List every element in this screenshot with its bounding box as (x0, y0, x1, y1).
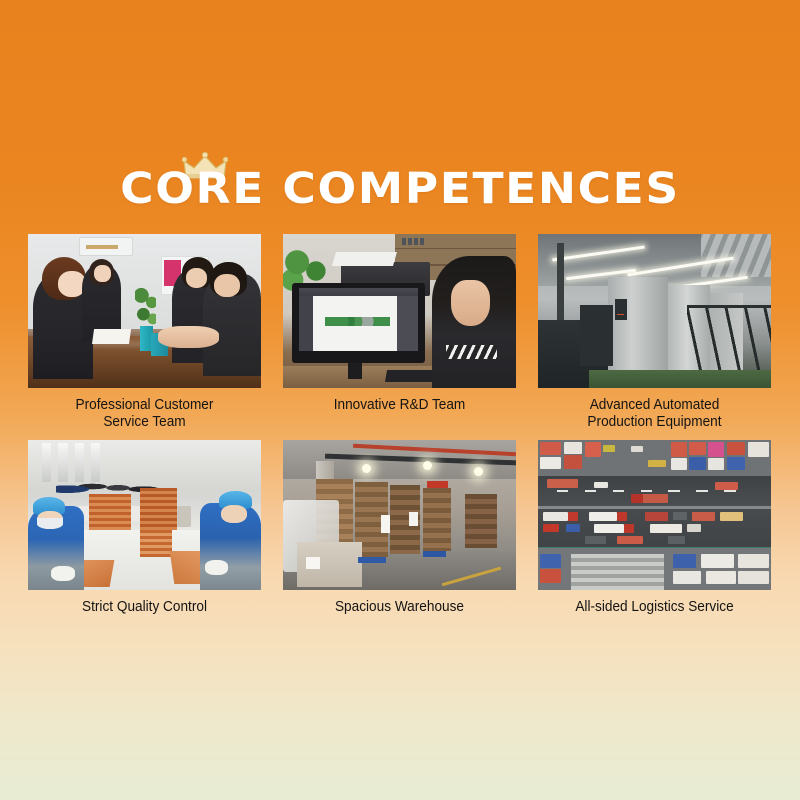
lane-marking (724, 490, 736, 492)
caption-line-1: Innovative R&D Team (334, 397, 466, 413)
truck-on-highway (692, 512, 715, 521)
shipping-container (540, 554, 561, 568)
competence-card-innovative-rd-team[interactable]: Innovative R&D Team (283, 234, 516, 431)
ceiling-lamp (474, 467, 483, 476)
shipping-container (564, 455, 583, 469)
truck-on-highway (547, 479, 577, 488)
monitor-screen (299, 288, 419, 350)
clasped-hands (158, 326, 219, 348)
photo-all-sided-logistics-service (538, 440, 771, 590)
software-toolbar (299, 288, 419, 296)
truck-on-highway (543, 524, 559, 532)
car-on-highway (668, 536, 684, 544)
ventilation-duct (701, 234, 771, 277)
competence-card-professional-customer-service-team[interactable]: Professional Customer Service Team (28, 234, 261, 431)
press-delivery-unit (580, 305, 613, 367)
caption-line-1: Spacious Warehouse (335, 599, 464, 615)
truck-on-highway (641, 494, 669, 503)
factory-floor (589, 370, 771, 388)
worker-left-face-mask (37, 518, 63, 529)
car-on-highway (687, 524, 701, 532)
shipping-container (708, 442, 724, 457)
plastic-skid (423, 551, 446, 557)
truck-on-highway (594, 524, 624, 533)
caption-line-2: Production Equipment (587, 414, 721, 430)
caption-line-1: Advanced Automated (590, 397, 720, 413)
caption-spacious-warehouse: Spacious Warehouse (290, 599, 509, 616)
shipping-container (748, 442, 769, 457)
shipping-container (671, 442, 687, 457)
shipping-container (540, 442, 561, 456)
pallet-label (306, 557, 320, 569)
caption-strict-quality-control: Strict Quality Control (35, 599, 254, 616)
monitor-stand (348, 363, 362, 378)
designer-face (451, 280, 491, 326)
machine-control-panel (615, 299, 627, 321)
competence-grid: Professional Customer Service Team (28, 234, 772, 616)
shipping-container (564, 442, 583, 454)
workshop-window (42, 443, 51, 482)
book (408, 238, 412, 245)
shipping-container (738, 571, 768, 585)
carton-pallet (423, 488, 451, 551)
printing-press-unit (608, 277, 669, 382)
support-beam (557, 243, 564, 323)
truck-on-highway (589, 512, 617, 521)
competence-card-all-sided-logistics-service[interactable]: All-sided Logistics Service (538, 440, 771, 616)
worker-left-glove (51, 566, 74, 581)
car-on-highway (585, 536, 606, 544)
car-on-highway (566, 524, 580, 532)
photo-strict-quality-control (28, 440, 261, 590)
parked-vehicle (603, 445, 615, 453)
person-right-front-face (214, 274, 240, 297)
computer-monitor (292, 283, 425, 363)
shelf-row (395, 248, 516, 249)
caption-innovative-rd-team: Innovative R&D Team (290, 397, 509, 414)
truck-cab (624, 524, 633, 533)
page-title: CORE COMPETENCES (0, 152, 800, 212)
carton-pallet (465, 494, 498, 548)
lane-marking (641, 490, 653, 492)
photo-innovative-rd-team (283, 234, 516, 388)
design-canvas-artwork (325, 317, 390, 326)
shipping-container (689, 457, 705, 471)
truck-on-highway (715, 482, 738, 490)
shipping-container (671, 458, 687, 470)
software-tool-panel (299, 296, 313, 350)
competence-card-strict-quality-control[interactable]: Strict Quality Control (28, 440, 261, 616)
car-on-highway (673, 512, 687, 520)
designer-collar (446, 345, 497, 359)
competence-card-spacious-warehouse[interactable]: Spacious Warehouse (283, 440, 516, 616)
box-stack (140, 530, 173, 557)
lane-marking (557, 490, 569, 492)
shipping-container (738, 554, 768, 568)
truck-on-highway (645, 512, 668, 521)
warehouse-sign (427, 481, 448, 489)
person-right-back-face (186, 268, 207, 288)
box-stack (140, 488, 177, 536)
shipping-container (585, 442, 601, 457)
worker-right-glove (205, 560, 228, 575)
caption-all-sided-logistics-service: All-sided Logistics Service (545, 599, 764, 616)
shipping-container (540, 457, 561, 469)
pallet-label (409, 512, 418, 526)
shipping-container (706, 571, 736, 585)
shipping-container (727, 457, 746, 471)
book (402, 238, 406, 245)
caption-line-1: Professional Customer (76, 397, 214, 413)
truck-on-highway (543, 512, 569, 521)
shipping-container (673, 554, 696, 568)
shipping-container (673, 571, 701, 585)
lane-marking (613, 490, 625, 492)
truck-on-highway (720, 512, 743, 521)
shipping-container (727, 442, 746, 456)
caption-line-1: All-sided Logistics Service (575, 599, 733, 615)
photo-advanced-automated-production-equipment (538, 234, 771, 388)
caption-line-1: Strict Quality Control (82, 599, 207, 615)
parked-truck (648, 460, 667, 468)
ceiling-lamp (423, 461, 432, 470)
truck-cab (631, 494, 643, 503)
title-block: CORE COMPETENCES (0, 152, 800, 212)
core-competences-poster: CORE COMPETENCES (0, 0, 800, 800)
book (414, 238, 418, 245)
photo-spacious-warehouse (283, 440, 516, 590)
worker-right-face (221, 505, 247, 523)
shipping-container (689, 442, 705, 456)
car-on-highway (594, 482, 608, 488)
plastic-skid (358, 557, 386, 563)
truck-on-highway (617, 536, 643, 544)
lane-marking (696, 490, 708, 492)
shipping-container (701, 554, 734, 568)
competence-card-advanced-automated-production-equipment[interactable]: Advanced Automated Production Equipment (538, 234, 771, 431)
caption-professional-customer-service-team: Professional Customer Service Team (35, 397, 254, 431)
parked-vehicle (631, 446, 643, 452)
truck-on-highway (650, 524, 683, 533)
book (420, 238, 424, 245)
shipping-container (540, 569, 561, 583)
person-left-back-face (94, 265, 110, 282)
warehouse-roof (571, 554, 664, 590)
truck-cab (568, 512, 577, 521)
air-conditioner (79, 237, 132, 256)
lane-marking (668, 490, 680, 492)
lane-marking (585, 490, 597, 492)
pallet-label (381, 515, 390, 533)
truck-cab (617, 512, 626, 521)
paper-tray (332, 252, 397, 266)
documents-on-table (92, 329, 131, 344)
software-side-panel (397, 296, 419, 350)
caption-line-2: Service Team (103, 414, 185, 430)
shipping-container (708, 458, 724, 470)
caption-advanced-automated-production-equipment: Advanced Automated Production Equipment (545, 397, 764, 431)
photo-professional-customer-service-team (28, 234, 261, 388)
